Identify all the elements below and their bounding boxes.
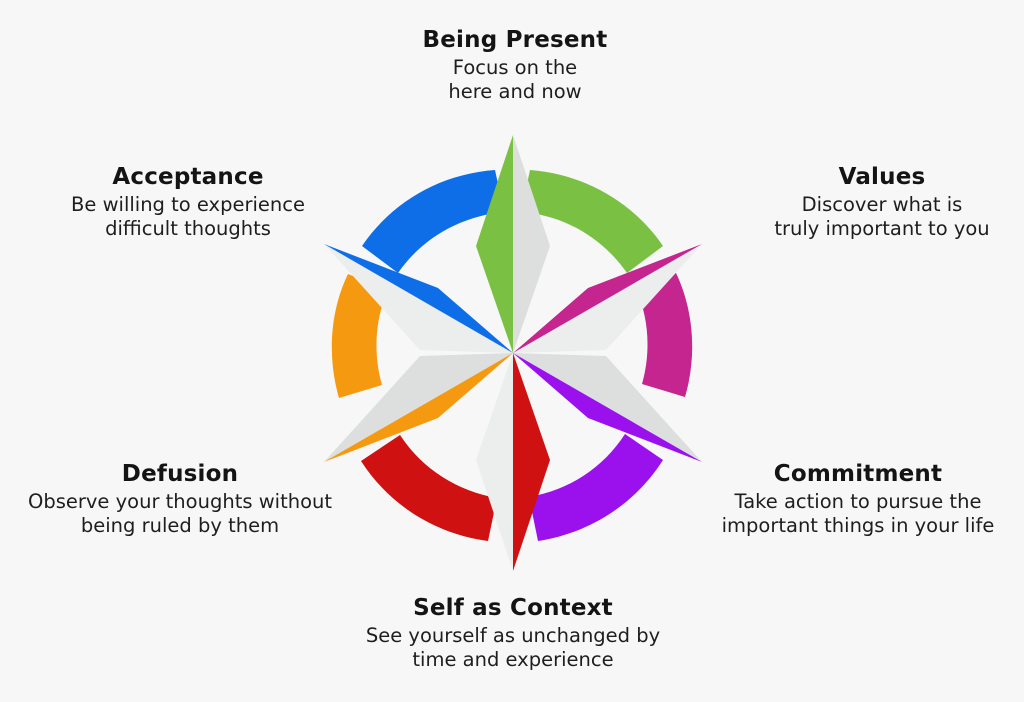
process-description-being-present: Focus on the here and now bbox=[355, 56, 675, 104]
star-ray-being-present-shadow bbox=[513, 135, 550, 353]
process-title-self-as-context: Self as Context bbox=[330, 594, 696, 622]
process-description-values: Discover what is truly important to you bbox=[740, 193, 1024, 241]
process-label-self-as-context: Self as Context See yourself as unchange… bbox=[330, 594, 696, 672]
process-description-self-as-context: See yourself as unchanged by time and ex… bbox=[330, 624, 696, 672]
process-title-commitment: Commitment bbox=[692, 460, 1024, 488]
ring-arc-commitment bbox=[529, 434, 663, 541]
process-description-acceptance: Be willing to experience difficult thoug… bbox=[28, 193, 348, 241]
process-label-being-present: Being Present Focus on the here and now bbox=[355, 26, 675, 104]
ring-arc-self-as-context bbox=[361, 435, 497, 541]
process-title-being-present: Being Present bbox=[355, 26, 675, 54]
process-label-defusion: Defusion Observe your thoughts without b… bbox=[2, 460, 358, 538]
star-ray-being-present-color bbox=[476, 135, 513, 353]
hexaflex-star-graphic bbox=[297, 127, 729, 579]
process-label-values: Values Discover what is truly important … bbox=[740, 163, 1024, 241]
process-description-commitment: Take action to pursue the important thin… bbox=[692, 490, 1024, 538]
process-description-defusion: Observe your thoughts without being rule… bbox=[2, 490, 358, 538]
diagram-canvas: Being Present Focus on the here and now … bbox=[0, 0, 1024, 702]
process-label-acceptance: Acceptance Be willing to experience diff… bbox=[28, 163, 348, 241]
process-title-acceptance: Acceptance bbox=[28, 163, 348, 191]
hexaflex-star bbox=[324, 135, 702, 571]
process-label-commitment: Commitment Take action to pursue the imp… bbox=[692, 460, 1024, 538]
process-title-defusion: Defusion bbox=[2, 460, 358, 488]
process-title-values: Values bbox=[740, 163, 1024, 191]
